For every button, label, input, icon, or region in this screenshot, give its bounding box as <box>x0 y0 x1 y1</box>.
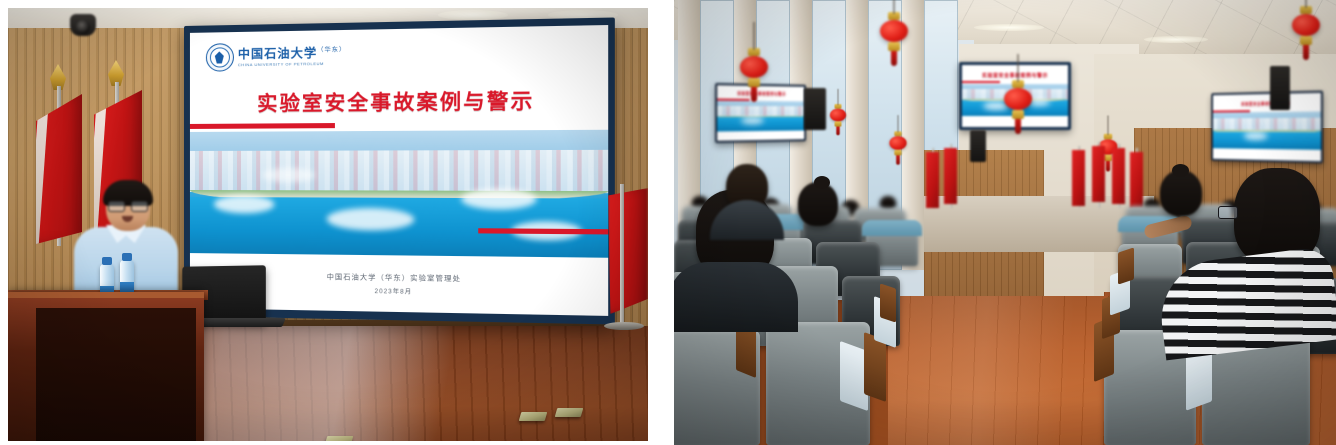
main-screen-slide-title: 实验室安全事故案例与警示 <box>962 72 1068 79</box>
glasses-icon <box>1218 206 1238 219</box>
red-lantern <box>740 56 768 78</box>
hair-bun <box>1172 164 1189 177</box>
glasses-icon <box>108 201 148 210</box>
flag-stand-base <box>604 322 644 330</box>
floor-plate <box>519 412 548 421</box>
right-photo-audience-auditorium: 实验室安全事故案例与警示 实验室安全事故案例与警示 <box>674 0 1336 445</box>
wall-speaker <box>804 88 826 130</box>
slide-accent-bar-left <box>190 123 335 129</box>
hair-bun <box>814 176 830 189</box>
ceiling-light <box>1144 36 1208 43</box>
slide-accent-bar-right <box>478 228 608 234</box>
wall-tv-left-slide-title: 实验室安全事故案例与警示 <box>717 91 804 98</box>
wall-tv-right-slide-title: 实验室安全事故案例与警示 <box>1213 100 1321 108</box>
ceiling-speaker-icon <box>70 14 96 36</box>
logo-chinese-name: 中国石油大学（华东） <box>238 46 346 60</box>
floor-plate <box>555 408 584 417</box>
podium-front-panel <box>36 308 196 441</box>
ceiling-light <box>974 24 1044 31</box>
red-lantern <box>889 136 906 150</box>
left-photo-speaker-at-podium: 中国石油大学（华东） CHINA UNIVERSITY OF PETROLEUM… <box>8 8 648 441</box>
red-lantern <box>880 20 908 42</box>
ceiling-light <box>438 10 508 20</box>
university-logo: 中国石油大学（华东） CHINA UNIVERSITY OF PETROLEUM <box>206 41 346 72</box>
wall-speaker <box>970 130 986 162</box>
armrest <box>880 283 896 322</box>
armrest <box>1118 247 1134 284</box>
university-seal-icon <box>206 43 234 72</box>
slide-campus-aerial-photo <box>190 130 608 258</box>
wall-tv-right: 实验室安全事故案例与警示 <box>1211 91 1323 164</box>
center-aisle-floor <box>888 296 1126 445</box>
red-lantern <box>1004 88 1032 110</box>
floor-plate <box>325 436 354 441</box>
wall-speaker <box>1270 66 1290 110</box>
wall-tv-left: 实验室安全事故案例与警示 <box>715 83 806 143</box>
logo-english-name: CHINA UNIVERSITY OF PETROLEUM <box>238 60 346 67</box>
slide-title: 实验室安全事故案例与警示 <box>190 83 608 117</box>
red-lantern <box>1292 14 1320 36</box>
red-lantern <box>830 109 846 122</box>
screenshot-root: 中国石油大学（华东） CHINA UNIVERSITY OF PETROLEUM… <box>0 0 1336 445</box>
